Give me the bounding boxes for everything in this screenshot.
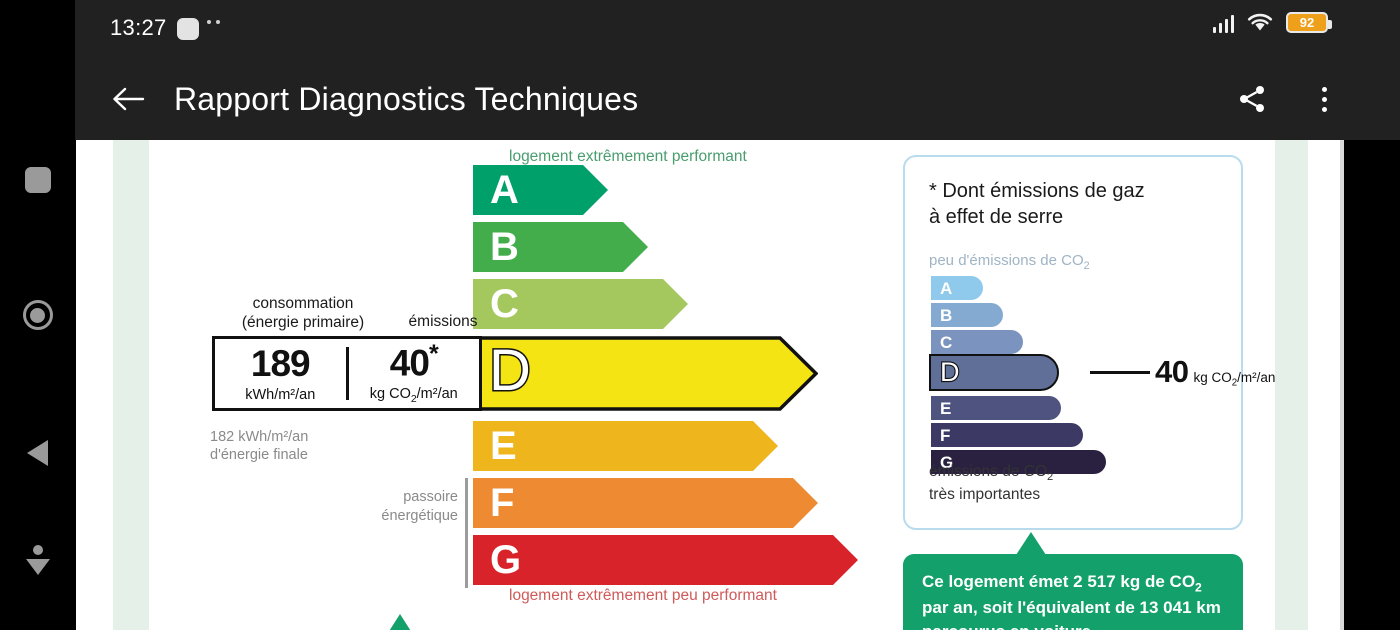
dpe-bar-g: G [473,535,858,585]
callout-pointer [1016,532,1046,555]
consumption-unit: kWh/m²/an [245,387,315,403]
app-bar: Rapport Diagnostics Techniques [75,57,1400,140]
status-bar: 13:27 92 [75,0,1400,57]
emissions-label: émissions [393,313,493,331]
dpe-bar-c: C [473,279,688,329]
dpe-bar-c-tip [663,279,688,329]
back-triangle-icon [24,438,52,468]
dpe-bar-b-letter: B [490,227,519,267]
back-arrow-icon [111,85,145,113]
dpe-bar-a-letter: A [490,170,519,210]
status-icons: 92 [1213,12,1329,33]
back-button-rail[interactable] [0,423,75,483]
ges-footer: émissions de CO2 très importantes [929,462,1053,504]
ges-panel: * Dont émissions de gaz à effet de serre… [903,155,1243,530]
ges-value: 40 [1155,356,1188,387]
back-button[interactable] [104,75,152,123]
dpe-top-label: logement extrêmement performant [509,148,747,166]
dpe-bar-b-tip [623,222,648,272]
emissions-unit: kg CO2/m²/an [370,386,458,405]
recents-square-icon [25,167,51,193]
dpe-energy-chart: logement extrêmement performant A B [188,140,878,630]
cellular-signal-icon [1213,13,1235,33]
dpe-bar-d-letter: D [489,342,531,400]
co2-callout-text: Ce logement émet 2 517 kg de CO2 par an,… [922,570,1224,630]
recents-button[interactable] [0,150,75,210]
ges-title: * Dont émissions de gaz à effet de serre [929,179,1145,230]
final-energy-note: 182 kWh/m²/an d'énergie finale [210,428,308,464]
wifi-icon [1247,13,1273,33]
dpe-bar-c-letter: C [490,284,519,324]
ges-bar-f: F [931,423,1083,447]
ges-value-group: 40 kg CO2/m²/an [1155,356,1275,389]
dpe-bar-d-selected: D [473,336,818,411]
passoire-bracket [465,478,468,588]
status-clock: 13:27 [110,15,167,41]
emissions-value-cell: 40* kg CO2/m²/an [349,339,480,408]
dpe-bar-e: E [473,421,778,471]
dpe-bar-f-letter: F [490,483,514,523]
consumption-label: consommation (énergie primaire) [208,295,398,333]
consumption-value-cell: 189 kWh/m²/an [215,339,346,408]
share-icon [1236,83,1268,115]
dpe-value-box: 189 kWh/m²/an 40* kg CO2/m²/an [212,336,482,411]
dpe-bar-b: B [473,222,648,272]
overflow-menu-icon [1322,87,1327,92]
page-stripe-right [1275,140,1308,630]
dpe-bar-g-tip [833,535,858,585]
dpe-bar-f: F [473,478,818,528]
ges-bar-e: E [931,396,1061,420]
system-navigation-rail [0,0,75,630]
emissions-asterisk: * [429,340,438,368]
dpe-bar-a: A [473,165,608,215]
ges-subtitle: peu d'émissions de CO2 [929,252,1090,272]
overflow-menu-button[interactable] [1300,75,1348,123]
page-right-edge [1340,140,1344,630]
dpe-bar-f-tip [793,478,818,528]
passoire-label: passoire énergétique [298,488,458,526]
dpe-bar-a-tip [583,165,608,215]
ges-bar-a: A [931,276,983,300]
ges-unit: kg CO2/m²/an [1193,370,1275,389]
dpe-bar-g-letter: G [490,540,521,580]
ges-leader-line [1090,371,1150,374]
dpe-bar-e-tip [753,421,778,471]
battery-icon: 92 [1286,12,1328,33]
home-circle-icon [23,300,53,330]
page-title: Rapport Diagnostics Techniques [174,77,638,121]
download-person-icon [23,544,53,576]
emissions-value: 40* [390,342,438,381]
download-button[interactable] [0,530,75,590]
screen: logement extrêmement performant A B [0,0,1400,630]
dpe-callout-pointer [386,614,414,630]
battery-level: 92 [1300,16,1314,29]
page-stripe-left [113,140,149,630]
ges-bar-d-selected: D [929,354,1059,391]
ges-bar-c: C [931,330,1023,354]
home-button[interactable] [0,285,75,345]
notification-chip-icon [177,18,199,40]
dpe-bottom-label: logement extrêmement peu performant [509,587,777,605]
document-page[interactable]: logement extrêmement performant A B [76,140,1340,630]
notification-dots-icon [207,20,220,24]
co2-callout: Ce logement émet 2 517 kg de CO2 par an,… [903,554,1243,630]
share-button[interactable] [1228,75,1276,123]
dpe-bar-e-letter: E [490,426,517,466]
ges-bar-b: B [931,303,1003,327]
consumption-value: 189 [251,345,310,382]
